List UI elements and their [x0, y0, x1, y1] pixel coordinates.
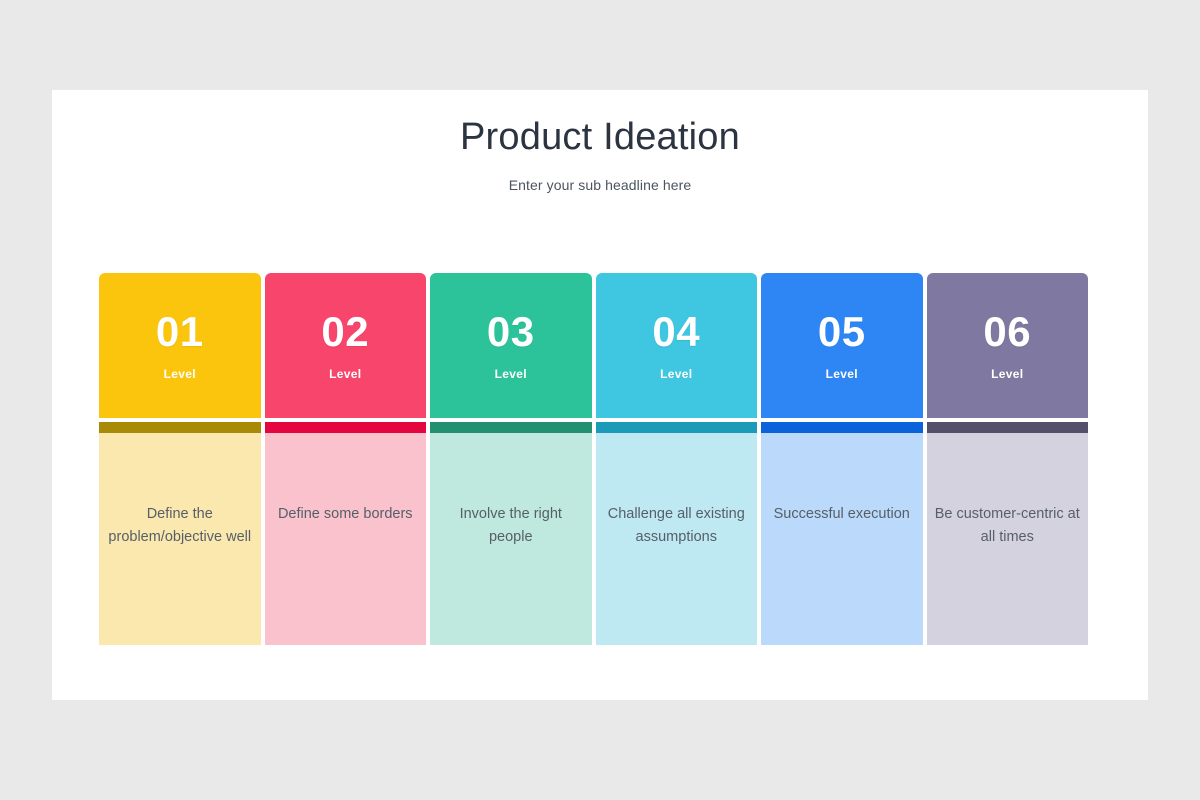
- level-label: Level: [329, 367, 361, 381]
- level-number: 01: [156, 311, 204, 353]
- level-number: 06: [983, 311, 1031, 353]
- level-number: 02: [321, 311, 369, 353]
- level-column-02[interactable]: 02LevelDefine some borders: [265, 273, 427, 645]
- level-body-06: Be customer-centric at all times: [927, 433, 1089, 645]
- level-divider-bar: [99, 422, 261, 433]
- slide-canvas: Product Ideation Enter your sub headline…: [0, 0, 1200, 800]
- level-description: Involve the right people: [438, 503, 584, 549]
- level-label: Level: [164, 367, 196, 381]
- level-label: Level: [660, 367, 692, 381]
- level-description: Define the problem/objective well: [107, 503, 253, 549]
- level-body-05: Successful execution: [761, 433, 923, 645]
- level-number: 05: [818, 311, 866, 353]
- level-divider-bar: [596, 422, 758, 433]
- level-column-05[interactable]: 05LevelSuccessful execution: [761, 273, 923, 645]
- level-head-05[interactable]: 05Level: [761, 273, 923, 418]
- level-divider-bar: [927, 422, 1089, 433]
- level-description: Define some borders: [278, 503, 413, 526]
- level-head-02[interactable]: 02Level: [265, 273, 427, 418]
- slide-heading: Product Ideation Enter your sub headline…: [52, 90, 1148, 193]
- level-number: 03: [487, 311, 535, 353]
- page-subtitle: Enter your sub headline here: [52, 177, 1148, 193]
- page-title: Product Ideation: [52, 115, 1148, 161]
- level-label: Level: [495, 367, 527, 381]
- level-body-01: Define the problem/objective well: [99, 433, 261, 645]
- level-description: Successful execution: [774, 503, 910, 526]
- level-number: 04: [652, 311, 700, 353]
- level-body-04: Challenge all existing assumptions: [596, 433, 758, 645]
- level-body-02: Define some borders: [265, 433, 427, 645]
- level-column-01[interactable]: 01LevelDefine the problem/objective well: [99, 273, 261, 645]
- level-body-03: Involve the right people: [430, 433, 592, 645]
- level-columns: 01LevelDefine the problem/objective well…: [99, 273, 1088, 645]
- level-divider-bar: [430, 422, 592, 433]
- level-label: Level: [826, 367, 858, 381]
- presentation-slide: Product Ideation Enter your sub headline…: [52, 90, 1148, 700]
- level-head-03[interactable]: 03Level: [430, 273, 592, 418]
- level-description: Challenge all existing assumptions: [604, 503, 750, 549]
- level-label: Level: [991, 367, 1023, 381]
- level-divider-bar: [761, 422, 923, 433]
- level-column-04[interactable]: 04LevelChallenge all existing assumption…: [596, 273, 758, 645]
- level-head-01[interactable]: 01Level: [99, 273, 261, 418]
- level-head-06[interactable]: 06Level: [927, 273, 1089, 418]
- level-column-03[interactable]: 03LevelInvolve the right people: [430, 273, 592, 645]
- level-description: Be customer-centric at all times: [935, 503, 1081, 549]
- level-divider-bar: [265, 422, 427, 433]
- level-head-04[interactable]: 04Level: [596, 273, 758, 418]
- level-column-06[interactable]: 06LevelBe customer-centric at all times: [927, 273, 1089, 645]
